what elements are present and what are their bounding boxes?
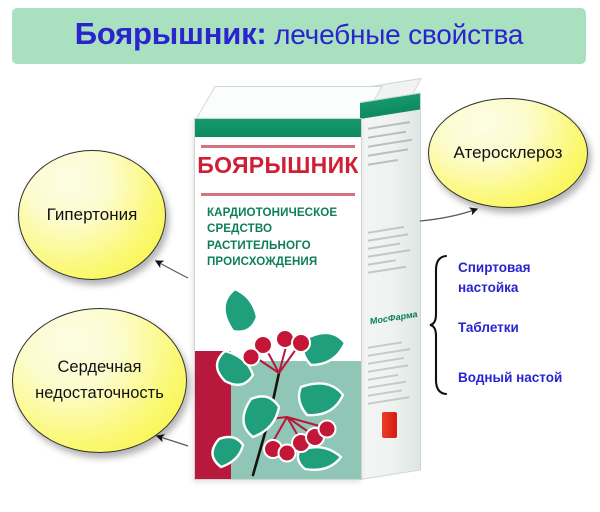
package-side-text-block-bottom (368, 340, 412, 411)
package-description-line-1: КАРДИОТОНИЧЕСКОЕ (207, 205, 357, 221)
package-front-green-band (195, 119, 361, 137)
form-item-tincture: Спиртовая настойка (458, 258, 594, 297)
curly-brace-icon (428, 254, 452, 396)
title-banner: Боярышник: лечебные свойства (12, 8, 586, 64)
package-description-line-3: РАСТИТЕЛЬНОГО (207, 238, 357, 254)
package-description: КАРДИОТОНИЧЕСКОЕ СРЕДСТВО РАСТИТЕЛЬНОГО … (207, 205, 357, 271)
package-side-text-block-top (368, 121, 412, 173)
page-title-rest: лечебные свойства (267, 19, 524, 50)
bubble-atherosclerosis[interactable]: Атеросклероз (428, 98, 588, 208)
bubble-hypertension[interactable]: Гипертония (18, 150, 166, 280)
infographic-canvas: Боярышник: лечебные свойства МосФарма (0, 0, 600, 512)
package-front-face: БОЯРЫШНИК КАРДИОТОНИЧЕСКОЕ СРЕДСТВО РАСТ… (194, 118, 362, 480)
arrow-to-atherosclerosis (420, 209, 477, 221)
bubble-atherosclerosis-label: Атеросклероз (454, 140, 563, 166)
bubble-heart-failure-label-line-2: недостаточность (35, 381, 164, 407)
manufacturer-logo: МосФарма (370, 309, 418, 327)
package-top-face (194, 86, 383, 122)
package-description-line-2: СРЕДСТВО (207, 221, 357, 237)
arrow-to-heart-failure (157, 436, 188, 446)
hawthorn-illustration (195, 269, 361, 479)
form-item-water-infusion: Водный настой (458, 368, 562, 388)
bubble-hypertension-label: Гипертония (47, 202, 138, 228)
package-side-text-block-mid (368, 225, 412, 280)
product-package: МосФарма БОЯРЫШНИК КАРДИОТОНИЧЕСКОЕ СРЕД… (186, 86, 422, 486)
package-red-tab (382, 412, 397, 438)
bubble-heart-failure[interactable]: Сердечная недостаточность (12, 308, 187, 453)
package-brand-name: БОЯРЫШНИК (195, 152, 361, 179)
bubble-heart-failure-label-line-1: Сердечная (58, 355, 142, 381)
hawthorn-branch-svg (195, 269, 361, 479)
form-item-tablets: Таблетки (458, 318, 519, 338)
page-title-strong: Боярышник: (75, 16, 267, 51)
package-rule-top (201, 145, 355, 148)
package-rule-bottom (201, 193, 355, 196)
arrow-to-hypertension (156, 261, 188, 278)
page-title: Боярышник: лечебные свойства (75, 16, 523, 52)
forms-brace (428, 254, 452, 396)
